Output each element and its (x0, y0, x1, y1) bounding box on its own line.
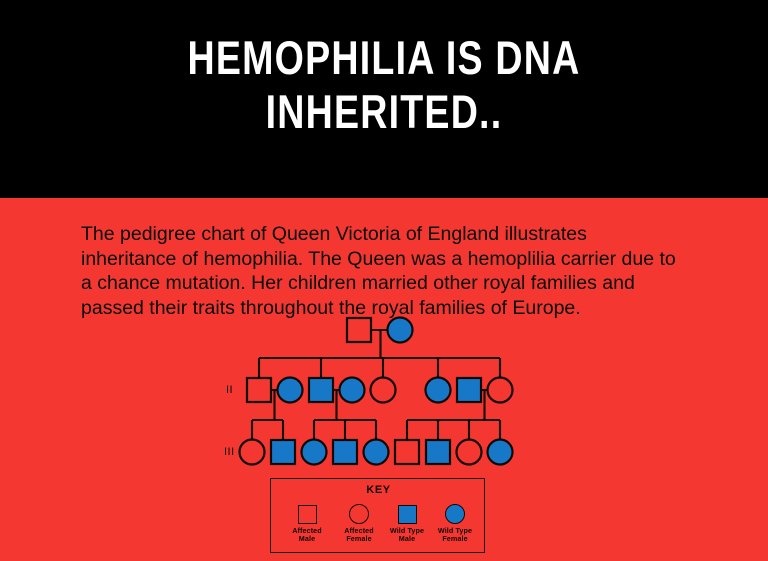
wild-type-female-circle-icon (445, 504, 465, 524)
legend-item-affected-female: Affected Female (333, 501, 385, 543)
body-paragraph: The pedigree chart of Queen Victoria of … (81, 222, 681, 320)
title-banner: HEMOPHILIA IS DNA INHERITED.. (0, 0, 768, 198)
legend-item-affected-male: Affected Male (281, 501, 333, 543)
pedigree-symbol-i-1 (347, 318, 371, 342)
legend-swatch-wrap (429, 501, 481, 527)
pedigree-symbol-i-2 (388, 318, 413, 343)
pedigree-symbol-iii-2 (271, 440, 295, 464)
pedigree-symbol-iii-8 (457, 440, 482, 465)
legend-label: Affected Male (281, 527, 333, 543)
legend-title: KEY (271, 484, 486, 496)
legend-label: Wild Type Female (429, 527, 481, 543)
pedigree-symbol-iii-4 (333, 440, 357, 464)
legend-swatch-wrap (381, 501, 433, 527)
pedigree-symbol-ii-4 (340, 378, 365, 403)
pedigree-symbol-ii-7 (457, 378, 481, 402)
generation-label-iii: III (224, 446, 235, 458)
pedigree-symbol-iii-3 (302, 440, 327, 465)
wild-type-male-square-icon (398, 505, 417, 524)
legend-box: KEY Affected Male Affected Female Wild T… (270, 478, 485, 553)
pedigree-symbol-ii-1 (247, 378, 271, 402)
legend-label: Wild Type Male (381, 527, 433, 543)
pedigree-symbol-iii-6 (395, 440, 419, 464)
slide-canvas: HEMOPHILIA IS DNA INHERITED.. The pedigr… (0, 0, 768, 561)
pedigree-symbol-iii-1 (240, 440, 265, 465)
pedigree-symbol-iii-5 (364, 440, 389, 465)
generation-label-ii: II (226, 384, 233, 396)
legend-item-wild-type-female: Wild Type Female (429, 501, 481, 543)
legend-label: Affected Female (333, 527, 385, 543)
pedigree-connector-lines (252, 330, 500, 440)
pedigree-symbol-iii-7 (426, 440, 450, 464)
affected-female-circle-icon (349, 504, 369, 524)
pedigree-symbols (240, 318, 513, 465)
page-title: HEMOPHILIA IS DNA INHERITED.. (77, 31, 691, 139)
pedigree-symbol-ii-3 (309, 378, 333, 402)
pedigree-symbol-ii-5 (371, 378, 396, 403)
pedigree-symbol-ii-6 (426, 378, 451, 403)
legend-swatch-wrap (281, 501, 333, 527)
pedigree-symbol-iii-9 (488, 440, 513, 465)
affected-male-square-icon (298, 505, 317, 524)
legend-swatch-wrap (333, 501, 385, 527)
pedigree-symbol-ii-2 (278, 378, 303, 403)
pedigree-symbol-ii-8 (488, 378, 513, 403)
legend-item-wild-type-male: Wild Type Male (381, 501, 433, 543)
